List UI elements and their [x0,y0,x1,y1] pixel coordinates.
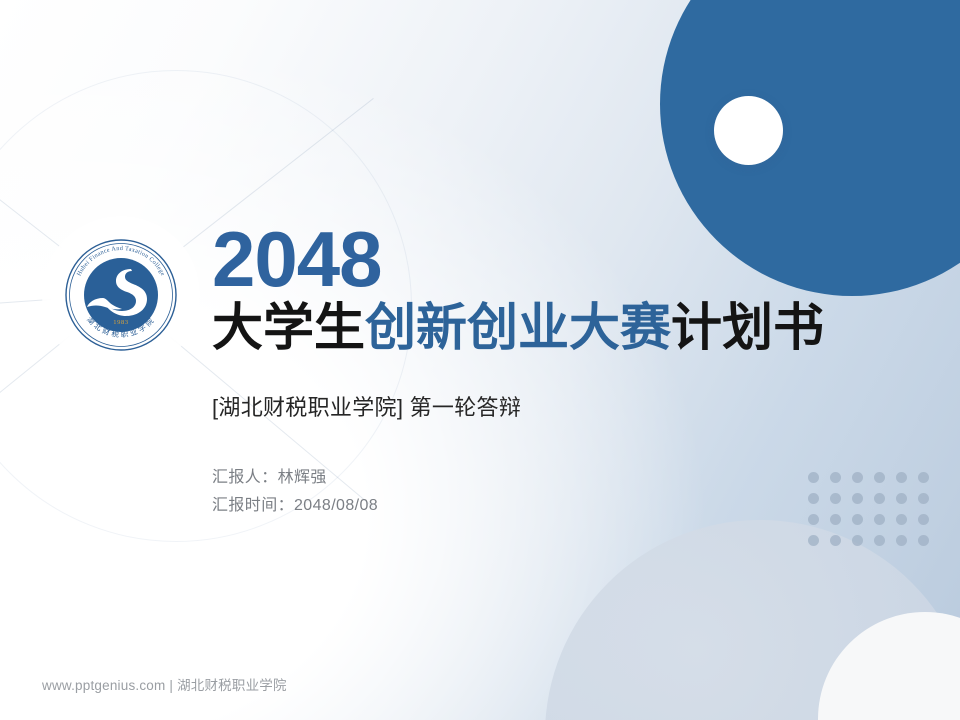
footer-credit: www.pptgenius.com | 湖北财税职业学院 [42,674,287,694]
college-emblem-icon: 1983 Hubei Finance And Taxation College … [62,236,180,354]
page-title: 大学生创新创业大赛计划书 [212,299,912,356]
college-logo-badge: 1983 Hubei Finance And Taxation College … [42,216,200,374]
headline-segment-dark-1: 大学生 [212,299,365,356]
subtitle: [湖北财税职业学院] 第一轮答辩 [212,390,912,422]
headline-segment-blue: 创新创业大赛 [365,299,671,356]
year-title: 2048 [212,222,912,297]
headline-segment-dark-2: 计划书 [671,299,824,356]
decor-white-circle-small [714,96,783,165]
presenter-line: 汇报人：林辉强 [212,464,912,492]
svg-text:1983: 1983 [113,319,128,326]
meta-block: 汇报人：林辉强 汇报时间：2048/08/08 [212,464,912,519]
presentation-slide: 1983 Hubei Finance And Taxation College … [0,0,960,720]
report-date-line: 汇报时间：2048/08/08 [212,492,912,520]
title-block: 2048 大学生创新创业大赛计划书 [湖北财税职业学院] 第一轮答辩 汇报人：林… [212,222,912,519]
